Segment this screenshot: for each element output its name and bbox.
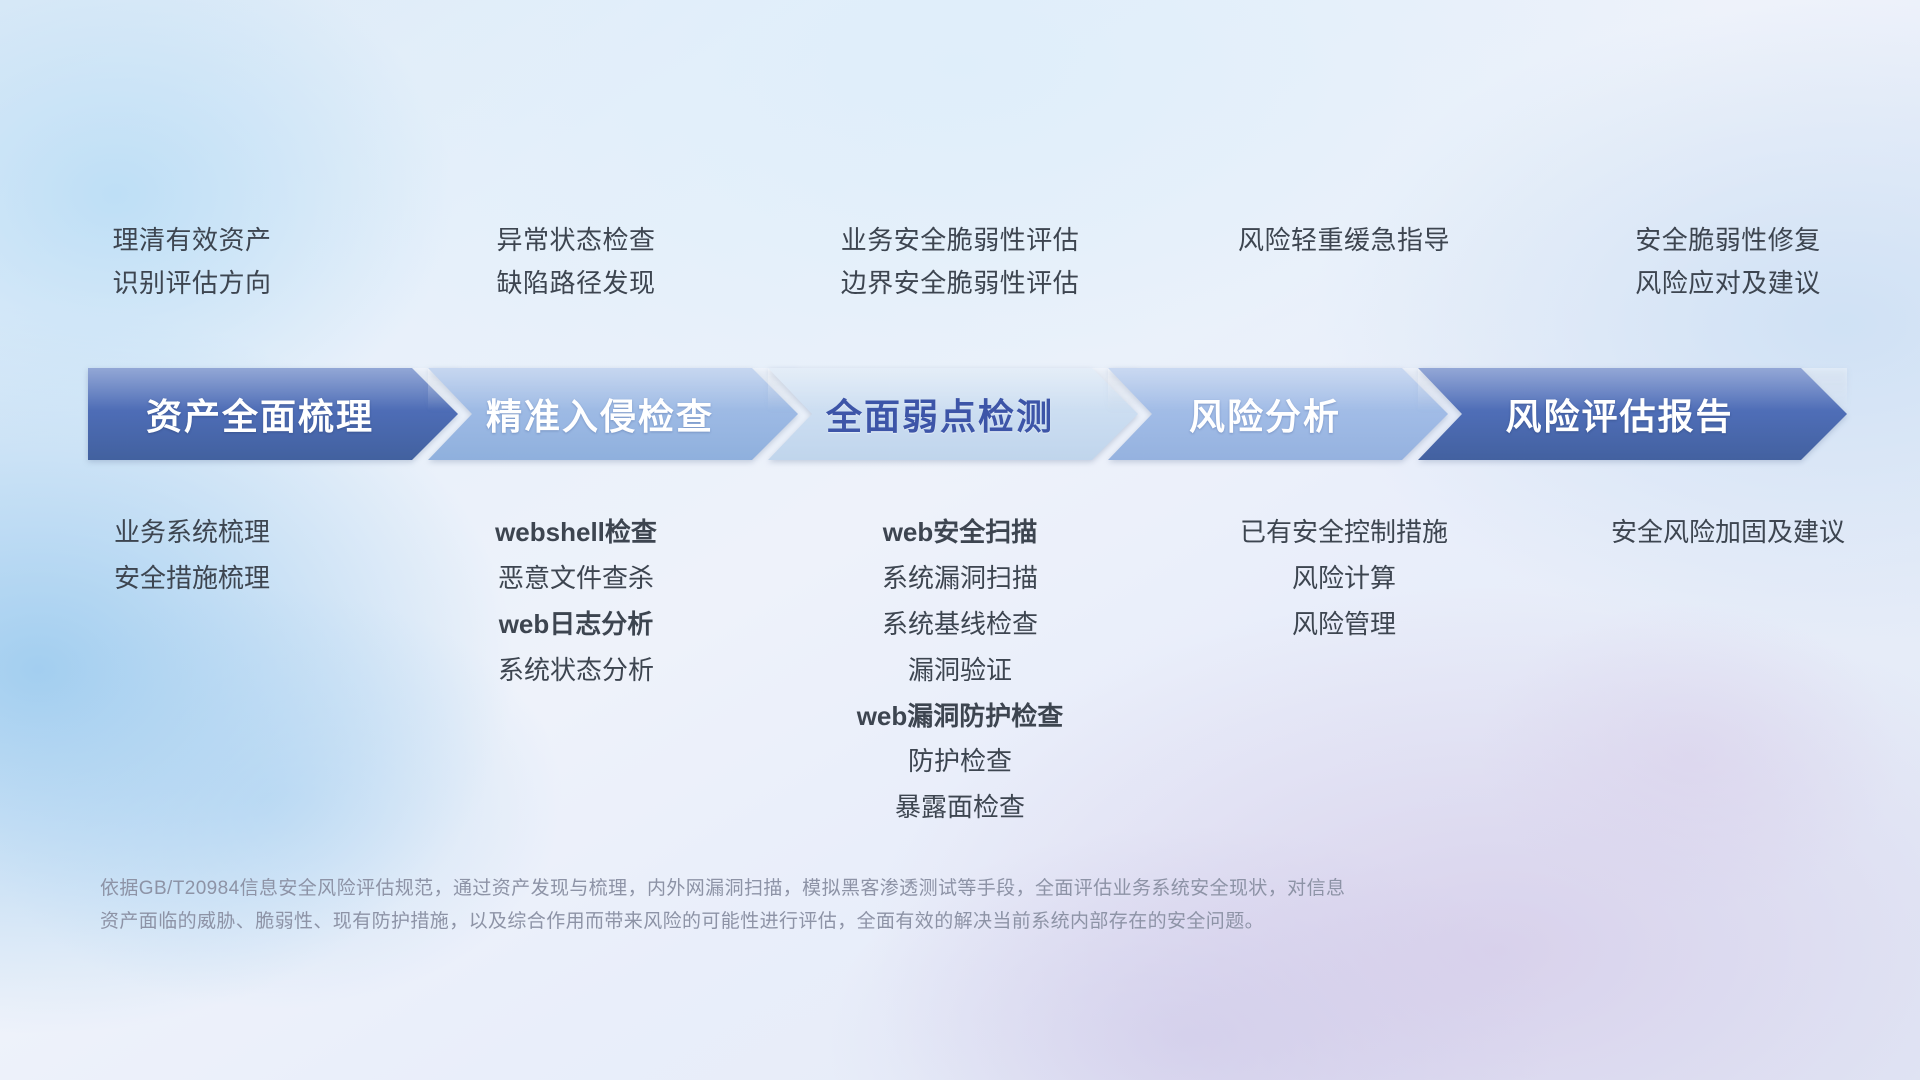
list-item: 风险管理	[1292, 610, 1396, 640]
top-caption: 识别评估方向	[112, 269, 271, 298]
top-caption: 理清有效资产	[112, 226, 271, 255]
list-item: 漏洞验证	[908, 656, 1012, 686]
detail-list-weakness-detection: web安全扫描 系统漏洞扫描 系统基线检查 漏洞验证 web漏洞防护检查 防护检…	[768, 500, 1152, 850]
stage-chevron-intrusion-check[interactable]: 精准入侵检查	[428, 368, 798, 460]
list-item: 风险计算	[1292, 564, 1396, 594]
top-caption: 边界安全脆弱性评估	[841, 269, 1080, 298]
stage-label: 精准入侵检查	[486, 388, 740, 440]
list-item: web漏洞防护检查	[857, 702, 1064, 732]
footer-line-1: 依据GB/T20984信息安全风险评估规范，通过资产发现与梳理，内外网漏洞扫描，…	[100, 872, 1660, 905]
stage-detail-lists: 业务系统梳理 安全措施梳理 webshell检查 恶意文件查杀 web日志分析 …	[0, 500, 1920, 850]
footer-line-2: 资产面临的威胁、脆弱性、现有防护措施，以及综合作用而带来风险的可能性进行评估，全…	[100, 905, 1660, 938]
top-caption: 风险轻重缓急指导	[1238, 226, 1450, 255]
footer-description: 依据GB/T20984信息安全风险评估规范，通过资产发现与梳理，内外网漏洞扫描，…	[100, 872, 1660, 939]
top-caption: 异常状态检查	[496, 226, 655, 255]
list-item: web日志分析	[499, 610, 654, 640]
top-caption-group-3: 业务安全脆弱性评估 边界安全脆弱性评估	[768, 226, 1152, 336]
detail-list-intrusion-check: webshell检查 恶意文件查杀 web日志分析 系统状态分析	[384, 500, 768, 850]
detail-list-assessment-report: 安全风险加固及建议	[1536, 500, 1920, 850]
list-item: 已有安全控制措施	[1240, 518, 1448, 548]
top-caption: 业务安全脆弱性评估	[841, 226, 1080, 255]
list-item: 恶意文件查杀	[498, 564, 654, 594]
top-caption-group-5: 安全脆弱性修复 风险应对及建议	[1536, 226, 1920, 336]
list-item: web安全扫描	[883, 518, 1038, 548]
list-item: 暴露面检查	[895, 793, 1025, 823]
stage-label: 风险分析	[1189, 388, 1367, 440]
list-item: webshell检查	[495, 518, 657, 548]
top-caption: 缺陷路径发现	[496, 269, 655, 298]
list-item: 系统漏洞扫描	[882, 564, 1038, 594]
list-item: 系统状态分析	[498, 656, 654, 686]
stage-label: 全面弱点检测	[826, 388, 1080, 440]
list-item: 业务系统梳理	[114, 518, 270, 548]
slide-canvas: 理清有效资产 识别评估方向 异常状态检查 缺陷路径发现 业务安全脆弱性评估 边界…	[0, 0, 1920, 1080]
process-chevron-band: 资产全面梳理 精准入侵检查 全面弱点检测 风险分析 风险评估报告	[88, 368, 1847, 460]
list-item: 系统基线检查	[882, 610, 1038, 640]
detail-list-asset-inventory: 业务系统梳理 安全措施梳理	[0, 500, 384, 850]
stage-chevron-weakness-detection[interactable]: 全面弱点检测	[768, 368, 1138, 460]
top-caption-group-1: 理清有效资产 识别评估方向	[0, 226, 384, 336]
list-item: 安全风险加固及建议	[1611, 518, 1845, 548]
stage-label: 风险评估报告	[1505, 388, 1759, 440]
stage-chevron-asset-inventory[interactable]: 资产全面梳理	[88, 368, 458, 460]
list-item: 安全措施梳理	[114, 564, 270, 594]
top-caption: 风险应对及建议	[1635, 269, 1821, 298]
stage-chevron-assessment-report[interactable]: 风险评估报告	[1418, 368, 1847, 460]
top-caption: 安全脆弱性修复	[1635, 226, 1821, 255]
detail-list-risk-analysis: 已有安全控制措施 风险计算 风险管理	[1152, 500, 1536, 850]
top-captions-row: 理清有效资产 识别评估方向 异常状态检查 缺陷路径发现 业务安全脆弱性评估 边界…	[0, 226, 1920, 336]
top-caption-group-4: 风险轻重缓急指导	[1152, 226, 1536, 336]
stage-label: 资产全面梳理	[146, 388, 400, 440]
top-caption-group-2: 异常状态检查 缺陷路径发现	[384, 226, 768, 336]
stage-chevron-risk-analysis[interactable]: 风险分析	[1108, 368, 1448, 460]
list-item: 防护检查	[908, 747, 1012, 777]
